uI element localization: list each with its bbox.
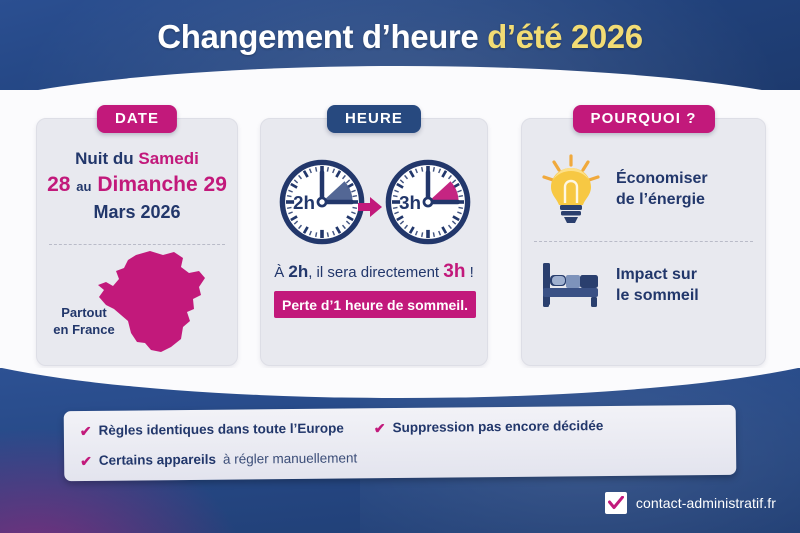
footer-band: ✔ Règles identiques dans toute l’Europe … bbox=[0, 368, 800, 533]
date-line-1-accent: Samedi bbox=[138, 149, 198, 168]
note-item-europe-label: Règles identiques dans toute l’Europe bbox=[99, 421, 344, 438]
date-card-divider bbox=[49, 244, 225, 245]
reason-energy-line1: Économiser bbox=[616, 168, 708, 189]
clock-after-label: 3h bbox=[399, 193, 421, 214]
clock-before-label: 2h bbox=[293, 193, 315, 214]
reason-energy-line2: de l’énergie bbox=[616, 189, 708, 210]
arrow-right-icon bbox=[358, 197, 382, 217]
sleep-loss-banner: Perte d’1 heure de sommeil. bbox=[274, 291, 476, 318]
heure-sentence-c: , il sera directement bbox=[308, 264, 443, 281]
reason-sleep-text: Impact sur le sommeil bbox=[616, 264, 699, 306]
brand-name: contact-administratif.fr bbox=[636, 495, 776, 511]
reason-sleep: Impact sur le sommeil bbox=[540, 259, 699, 311]
date-line-1: Nuit du Samedi bbox=[37, 147, 237, 171]
france-map-label: Partout en France bbox=[45, 304, 123, 338]
note-item-europe: ✔ Règles identiques dans toute l’Europe bbox=[80, 421, 344, 439]
note-item-appareils-label: Certains appareils bbox=[99, 452, 216, 468]
card-pourquoi-badge: POURQUOI ? bbox=[572, 105, 714, 133]
check-icon: ✔ bbox=[80, 453, 92, 467]
date-text-block: Nuit du Samedi 28 au Dimanche 29 Mars 20… bbox=[37, 147, 237, 225]
reason-sleep-line2: le sommeil bbox=[616, 285, 699, 306]
france-map-block: Partout en France bbox=[37, 249, 237, 361]
date-line-3: Mars 2026 bbox=[37, 200, 237, 225]
note-item-appareils-sublabel: à régler manuellement bbox=[223, 450, 357, 466]
card-date: DATE Nuit du Samedi 28 au Dimanche 29 Ma… bbox=[36, 118, 238, 366]
page-title: Changement d’heure d’été 2026 bbox=[0, 18, 800, 56]
card-heure: HEURE bbox=[260, 118, 488, 366]
infographic-page: Changement d’heure d’été 2026 DATE Nuit … bbox=[0, 0, 800, 533]
reason-energy-text: Économiser de l’énergie bbox=[616, 168, 708, 210]
page-title-accent: d’été 2026 bbox=[487, 18, 643, 55]
lightbulb-icon bbox=[540, 153, 602, 225]
date-day-28: 28 bbox=[47, 173, 70, 196]
date-line-2: 28 au Dimanche 29 bbox=[37, 171, 237, 200]
reason-sleep-line1: Impact sur bbox=[616, 264, 699, 285]
pourquoi-card-divider bbox=[534, 241, 753, 242]
card-heure-badge: HEURE bbox=[327, 105, 421, 133]
note-item-appareils: ✔ Certains appareils à régler manuelleme… bbox=[80, 450, 357, 468]
reason-energy: Économiser de l’énergie bbox=[540, 153, 708, 225]
card-pourquoi: POURQUOI ? bbox=[521, 118, 766, 366]
heure-sentence: À 2h, il sera directement 3h ! bbox=[261, 261, 487, 283]
heure-sentence-from: 2h bbox=[288, 262, 308, 281]
heure-sentence-e: ! bbox=[465, 264, 473, 281]
date-au: au bbox=[76, 179, 91, 194]
notes-panel: ✔ Règles identiques dans toute l’Europe … bbox=[64, 405, 737, 481]
heure-sentence-to: 3h bbox=[443, 261, 465, 282]
brand-check-icon bbox=[605, 492, 627, 514]
brand-logo[interactable]: contact-administratif.fr bbox=[605, 492, 776, 514]
check-icon: ✔ bbox=[80, 423, 92, 437]
cards-row: DATE Nuit du Samedi 28 au Dimanche 29 Ma… bbox=[0, 108, 800, 368]
france-map-label-line2: en France bbox=[45, 321, 123, 338]
header-band: Changement d’heure d’été 2026 bbox=[0, 0, 800, 90]
clock-before-icon: 2h bbox=[277, 157, 367, 247]
card-date-badge: DATE bbox=[97, 105, 177, 133]
date-day-29: 29 bbox=[204, 173, 227, 196]
date-weekday-dimanche: Dimanche bbox=[97, 173, 197, 196]
clock-after-icon: 3h bbox=[383, 157, 473, 247]
bed-icon bbox=[540, 259, 602, 311]
note-item-suppression: ✔ Suppression pas encore décidée bbox=[374, 418, 604, 435]
note-item-suppression-label: Suppression pas encore décidée bbox=[393, 418, 604, 435]
france-map-label-line1: Partout bbox=[45, 304, 123, 321]
page-title-main: Changement d’heure bbox=[157, 18, 487, 55]
clock-row: 2h bbox=[261, 157, 487, 255]
heure-sentence-a: À bbox=[274, 264, 288, 281]
date-line-1-plain: Nuit du bbox=[75, 149, 138, 168]
check-icon: ✔ bbox=[374, 421, 386, 435]
